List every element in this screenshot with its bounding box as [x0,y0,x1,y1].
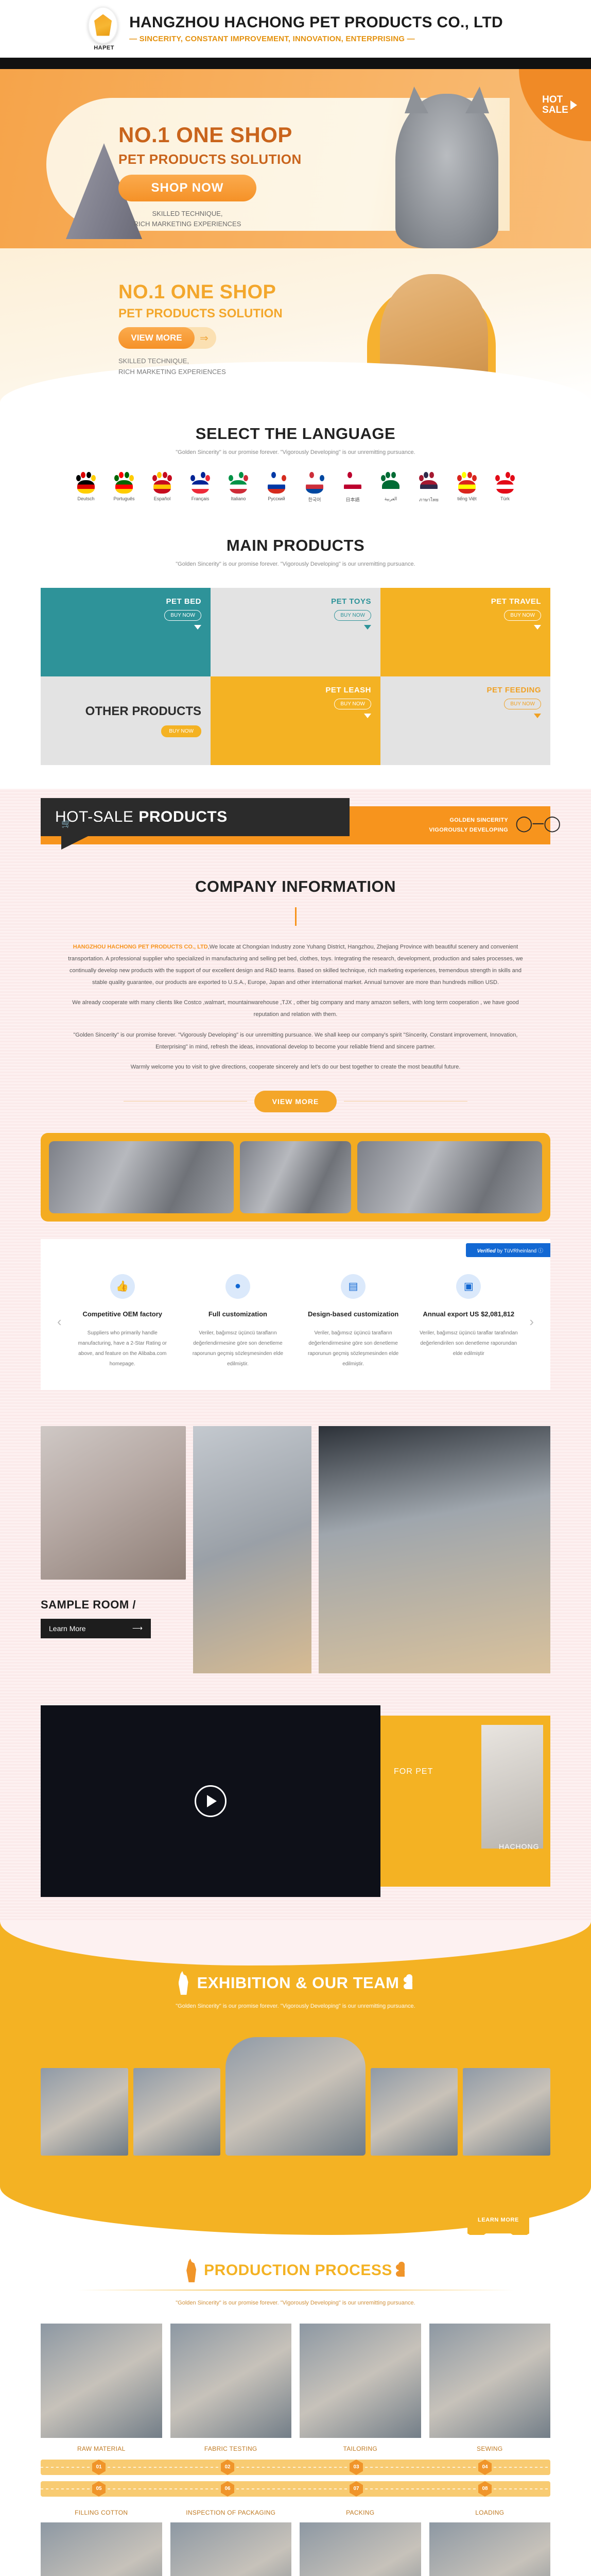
exhibition-photo-row [41,2037,550,2156]
sample-room-title: SAMPLE ROOM / [41,1598,186,1612]
production-step-number: 05 [92,2481,106,2497]
divider-left [124,1101,247,1101]
production-step-number: 08 [478,2481,492,2497]
production-subtitle: "Golden Sincerity" is our promise foreve… [0,2300,591,2306]
language-label: Português [110,496,138,501]
advantage-item-0: 👍Competitive OEM factorySuppliers who pr… [65,1274,180,1369]
factory-photo-strip [41,1133,550,1222]
top-curve-decor [0,1922,591,1965]
production-header: PRODUCTION PROCESS [41,2259,550,2282]
hot-sale-banner: GOLDEN SINCERITYVIGOROUSLY DEVELOPING ◯─… [41,789,550,849]
arrow-right-icon: ⇒ [200,332,208,345]
hot-sale-title-plate: HOT-SALE PRODUCTS [41,798,350,836]
production-photo-02 [170,2324,292,2438]
language-option-9[interactable]: ภาษาไทย [414,471,443,503]
buy-now-button[interactable]: BUY NOW [161,725,201,737]
company-info-title: COMPANY INFORMATION [41,877,550,896]
company-logo[interactable]: HAPET [88,7,120,51]
advantage-description: Veriler, bağımsız üçüncü tarafların değe… [186,1328,289,1369]
hero-copy: NO.1 ONE SHOP PET PRODUCTS SOLUTION SHOP… [118,123,360,229]
sample-room-left: SAMPLE ROOM / Learn More ⟶ [41,1426,186,1673]
advantage-description: Suppliers who primarily handle manufactu… [71,1328,174,1369]
buy-now-button[interactable]: BUY NOW [504,699,541,709]
production-step-number: 07 [350,2481,363,2497]
main-products-grid: PET BED BUY NOW PET TOYS BUY NOW PET TRA… [41,588,550,765]
company-paragraph-1: HANGZHOU HACHONG PET PRODUCTS CO., LTD,W… [62,941,529,989]
video-section: FOR PET HACHONG [41,1697,550,1922]
buy-now-button[interactable]: BUY NOW [164,610,201,621]
production-step-label: FABRIC TESTING [170,2445,292,2452]
advantage-description: Veriler, bağımsız üçüncü taraflar tarafı… [417,1328,520,1359]
paw-flag-icon [266,471,287,494]
supplier-advantages-card: Verified by TüVRheinland ⓘ ‹ 👍Competitiv… [41,1239,550,1390]
paw-flag-icon [456,471,478,494]
advantage-title: Annual export US $2,081,812 [417,1310,520,1318]
sample-room-shelves-photo [193,1426,311,1673]
company-paragraph-3: "Golden Sincerity" is our promise foreve… [62,1029,529,1053]
tile-label: PET LEASH [220,686,371,694]
company-view-more-button[interactable]: VIEW MORE [254,1091,337,1112]
chevron-down-icon [534,714,541,718]
play-arrow-icon [570,100,577,110]
chevron-down-icon [364,714,371,718]
language-label: Français [186,496,215,501]
main-products-section: MAIN PRODUCTS "Golden Sincerity" is our … [0,519,591,789]
production-photo-06 [170,2522,292,2576]
tile-label: PET TOYS [220,597,371,606]
hero2-headline: NO.1 ONE SHOP [118,281,345,303]
advantage-description: Veriler, bağımsız üçüncü tarafların değe… [302,1328,405,1369]
nav-bar-placeholder [0,58,591,69]
company-name-inline: HANGZHOU HACHONG PET PRODUCTS CO., LTD [73,944,208,950]
heart-icon [406,1984,412,1989]
hearts-decor [406,1977,412,1989]
chevron-down-icon [364,625,371,630]
cat-icon [186,2259,198,2282]
tile-label: OTHER PRODUCTS [85,704,201,719]
production-row2-captions: FILLING COTTONINSPECTION OF PACKAGINGPAC… [41,2502,550,2516]
production-step-number: 03 [350,2460,363,2475]
hot-sale-label: HOTSALE [542,95,568,115]
language-label: Deutsch [72,496,100,501]
language-option-10[interactable]: tiếng Việt [453,471,481,503]
sample-room-section: SAMPLE ROOM / Learn More ⟶ [41,1413,550,1697]
tile-label: PET BED [50,597,201,606]
hero-note-line1: SKILLED TECHNIQUE, [152,210,222,217]
hero2-subheadline: PET PRODUCTS SOLUTION [118,307,345,321]
hot-sale-subtitle: PROFESSIONAL PERSISTENCE [82,820,188,828]
exhibition-photo-featured [225,2037,365,2156]
exhibition-header: EXHIBITION & OUR TEAM [41,1971,550,1995]
paw-flag-icon [304,471,325,494]
production-step-label: RAW MATERIAL [41,2445,162,2452]
advantage-title: Full customization [186,1310,289,1318]
view-more-button[interactable]: VIEW MORE [118,327,195,349]
verified-label: Verified [477,1248,496,1254]
hot-sale-subtitle-row: 🛒 | PROFESSIONAL PERSISTENCE [61,819,188,829]
sample-room-learn-more-button[interactable]: Learn More ⟶ [41,1619,151,1638]
sample-room-showroom-photo [319,1426,550,1673]
language-title: SELECT THE LANGUAGE [0,425,591,443]
buy-now-button[interactable]: BUY NOW [334,610,371,621]
site-header: HAPET HANGZHOU HACHONG PET PRODUCTS CO.,… [0,0,591,58]
main-products-tagline: "Golden Sincerity" is our promise foreve… [0,561,591,567]
product-tile-pet-bed[interactable]: PET BED BUY NOW [41,588,211,676]
play-icon[interactable] [195,1785,227,1817]
exhibition-section: EXHIBITION & OUR TEAM "Golden Sincerity"… [0,1922,591,2187]
heart-icon [398,2271,405,2277]
hot-sale-slogan: GOLDEN SINCERITYVIGOROUSLY DEVELOPING [429,816,508,835]
title-divider [295,907,297,926]
divider-right [344,1101,467,1101]
verified-authority: by TüVRheinland ⓘ [497,1248,543,1254]
exhibition-photo [41,2068,128,2156]
buy-now-button[interactable]: BUY NOW [334,699,371,709]
production-step-label: PACKING [300,2509,421,2516]
learn-more-label: Learn More [49,1624,86,1633]
hot-sale-slogan-block: GOLDEN SINCERITYVIGOROUSLY DEVELOPING ◯─… [429,815,550,836]
product-tile-pet-feeding[interactable]: PET FEEDING BUY NOW [380,676,550,765]
production-track-2: 05060708 [41,2481,550,2497]
cart-icon: 🛒 [61,819,72,829]
hot-sale-badge[interactable]: HOTSALE [519,69,591,141]
exhibition-photo [371,2068,458,2156]
hero2-copy: NO.1 ONE SHOP PET PRODUCTS SOLUTION VIEW… [118,281,345,378]
production-row2-images [41,2522,550,2576]
production-title: PRODUCTION PROCESS [204,2262,392,2279]
company-section-bg: GOLDEN SINCERITYVIGOROUSLY DEVELOPING ◯─… [0,789,591,1922]
hero2-note: SKILLED TECHNIQUE,RICH MARKETING EXPERIE… [118,356,345,378]
view-more-wrap: VIEW MORE ⇒ [118,327,216,349]
factory-photo-corridor [240,1141,351,1213]
exhibition-photo [463,2068,550,2156]
paw-flag-icon [75,471,97,494]
sample-room-photo [41,1426,186,1580]
factory-photo-machine [357,1141,542,1213]
language-label: 한국어 [300,496,329,503]
exhibition-title: EXHIBITION & OUR TEAM [197,1974,399,1992]
language-label: Русский [262,496,291,501]
production-step-number: 04 [478,2460,492,2475]
language-label: العربية [376,496,405,502]
paw-flag-icon [418,471,440,494]
advantage-title: Competitive OEM factory [71,1310,174,1318]
chevron-down-icon [534,625,541,630]
production-divider [77,2290,514,2291]
company-cta-row: VIEW MORE [41,1091,550,1112]
paw-flag-icon [189,471,211,494]
language-label: ภาษาไทย [414,496,443,503]
production-row1-images [41,2324,550,2438]
language-label: Italiano [224,496,253,501]
company-name: HANGZHOU HACHONG PET PRODUCTS CO., LTD [129,14,503,31]
carousel-prev-button[interactable]: ‹ [54,1314,65,1330]
company-video-player[interactable] [41,1705,380,1897]
factory-photo-office [49,1141,234,1213]
production-photo-01 [41,2324,162,2438]
side-brand: HACHONG [499,1842,540,1851]
arrow-right-icon: ⟶ [132,1624,143,1633]
advantage-item-3: ▣Annual export US $2,081,812Veriler, bağ… [411,1274,526,1369]
shop-now-button[interactable]: SHOP NOW [118,175,256,201]
bottom-curve-decor: LEARN MORE [0,2187,591,2235]
production-step-number: 06 [221,2481,234,2497]
production-photo-07 [300,2522,421,2576]
location-pin-icon: ● [225,1274,250,1299]
advantages-list: 👍Competitive OEM factorySuppliers who pr… [65,1274,527,1369]
advantage-item-1: ●Full customizationVeriler, bağımsız üçü… [180,1274,295,1369]
language-option-3[interactable]: Français [186,471,215,503]
company-information-section: COMPANY INFORMATION HANGZHOU HACHONG PET… [41,849,550,1133]
language-label: Español [148,496,177,501]
hero-headline: NO.1 ONE SHOP [118,123,360,147]
language-option-2[interactable]: Español [148,471,177,503]
production-step-label: FILLING COTTON [41,2509,162,2516]
ribbon-fold [61,836,88,850]
production-step-number: 02 [221,2460,234,2475]
header-text-block: HANGZHOU HACHONG PET PRODUCTS CO., LTD —… [129,14,503,43]
exhibition-subtitle: "Golden Sincerity" is our promise foreve… [0,2003,591,2009]
hero-subheadline: PET PRODUCTS SOLUTION [118,151,360,167]
product-tile-pet-toys[interactable]: PET TOYS BUY NOW [211,588,380,676]
verified-badge: Verified by TüVRheinland ⓘ [466,1243,550,1257]
language-option-7[interactable]: 日本語 [338,471,367,503]
logo-wordmark: HAPET [88,45,120,51]
hero-note: SKILLED TECHNIQUE, RICH MARKETING EXPERI… [118,209,256,229]
language-option-8[interactable]: العربية [376,471,405,503]
advantage-title: Design-based customization [302,1310,405,1318]
company-slogan: — SINCERITY, CONSTANT IMPROVEMENT, INNOV… [129,35,503,43]
paw-logo-icon [94,14,112,36]
paw-flag-icon [228,471,249,494]
language-label: Türk [491,496,519,501]
production-process-section: PRODUCTION PROCESS "Golden Sincerity" is… [0,2235,591,2576]
exhibition-photo [133,2068,221,2156]
main-products-title: MAIN PRODUCTS [0,536,591,555]
product-tile-pet-leash[interactable]: PET LEASH BUY NOW [211,676,380,765]
cat-icon [179,1971,190,1995]
export-box-icon: ▣ [456,1274,481,1299]
language-option-0[interactable]: Deutsch [72,471,100,503]
production-step-label: SEWING [429,2445,551,2452]
language-section: SELECT THE LANGUAGE "Golden Sincerity" i… [0,403,591,519]
hearts-decor [398,2264,405,2277]
production-photo-05 [41,2522,162,2576]
company-info-body: HANGZHOU HACHONG PET PRODUCTS CO., LTD,W… [41,941,550,1073]
language-option-11[interactable]: Türk [491,471,519,503]
video-side-panel: FOR PET HACHONG [380,1716,550,1887]
language-label: 日本語 [338,496,367,503]
hero-banner-primary: NO.1 ONE SHOP PET PRODUCTS SOLUTION SHOP… [0,69,591,248]
tile-label: PET FEEDING [390,686,541,694]
language-list: DeutschPortuguêsEspañolFrançaisItalianoР… [0,471,591,503]
product-tile-other-products[interactable]: OTHER PRODUCTS BUY NOW [41,676,211,765]
paw-flag-icon [342,471,363,494]
hero-banner-secondary: NO.1 ONE SHOP PET PRODUCTS SOLUTION VIEW… [0,248,591,403]
paw-flag-icon [151,471,173,494]
side-product-photo [481,1725,543,1849]
tile-label: PET TRAVEL [390,597,541,606]
advantage-item-2: ▤Design-based customizationVeriler, bağı… [295,1274,411,1369]
company-paragraph-4: Warmly welcome you to visit to give dire… [62,1061,529,1073]
company-paragraph-2: We already cooperate with many clients l… [62,997,529,1021]
production-step-label: LOADING [429,2509,551,2516]
buy-now-button[interactable]: BUY NOW [504,610,541,621]
cat-photo [395,94,498,248]
language-label: tiếng Việt [453,496,481,501]
paw-flag-icon [494,471,516,494]
language-option-5[interactable]: Русский [262,471,291,503]
paw-flag-icon [380,471,402,494]
carousel-next-button[interactable]: › [526,1314,537,1330]
production-photo-08 [429,2522,551,2576]
production-step-label: TAILORING [300,2445,421,2452]
production-photo-03 [300,2324,421,2438]
language-option-1[interactable]: Português [110,471,138,503]
advantages-row: ‹ 👍Competitive OEM factorySuppliers who … [54,1274,537,1369]
product-tile-pet-travel[interactable]: PET TRAVEL BUY NOW [380,588,550,676]
language-option-6[interactable]: 한국어 [300,471,329,503]
bone-icon: ◯─◯ [515,815,537,836]
production-row1-captions: RAW MATERIALFABRIC TESTINGTAILORINGSEWIN… [41,2438,550,2452]
language-option-4[interactable]: Italiano [224,471,253,503]
thumbs-up-icon: 👍 [110,1274,135,1299]
side-label: FOR PET [394,1767,433,1776]
production-photo-04 [429,2324,551,2438]
language-tagline: "Golden Sincerity" is our promise foreve… [0,449,591,455]
document-icon: ▤ [341,1274,366,1299]
production-track-1: 01020304 [41,2460,550,2475]
hero-note-line2: RICH MARKETING EXPERIENCES [134,220,241,228]
production-step-number: 01 [92,2460,106,2475]
production-step-label: INSPECTION OF PACKAGING [170,2509,292,2516]
paw-flag-icon [113,471,135,494]
chevron-down-icon [194,625,201,630]
logo-oval [88,7,118,44]
